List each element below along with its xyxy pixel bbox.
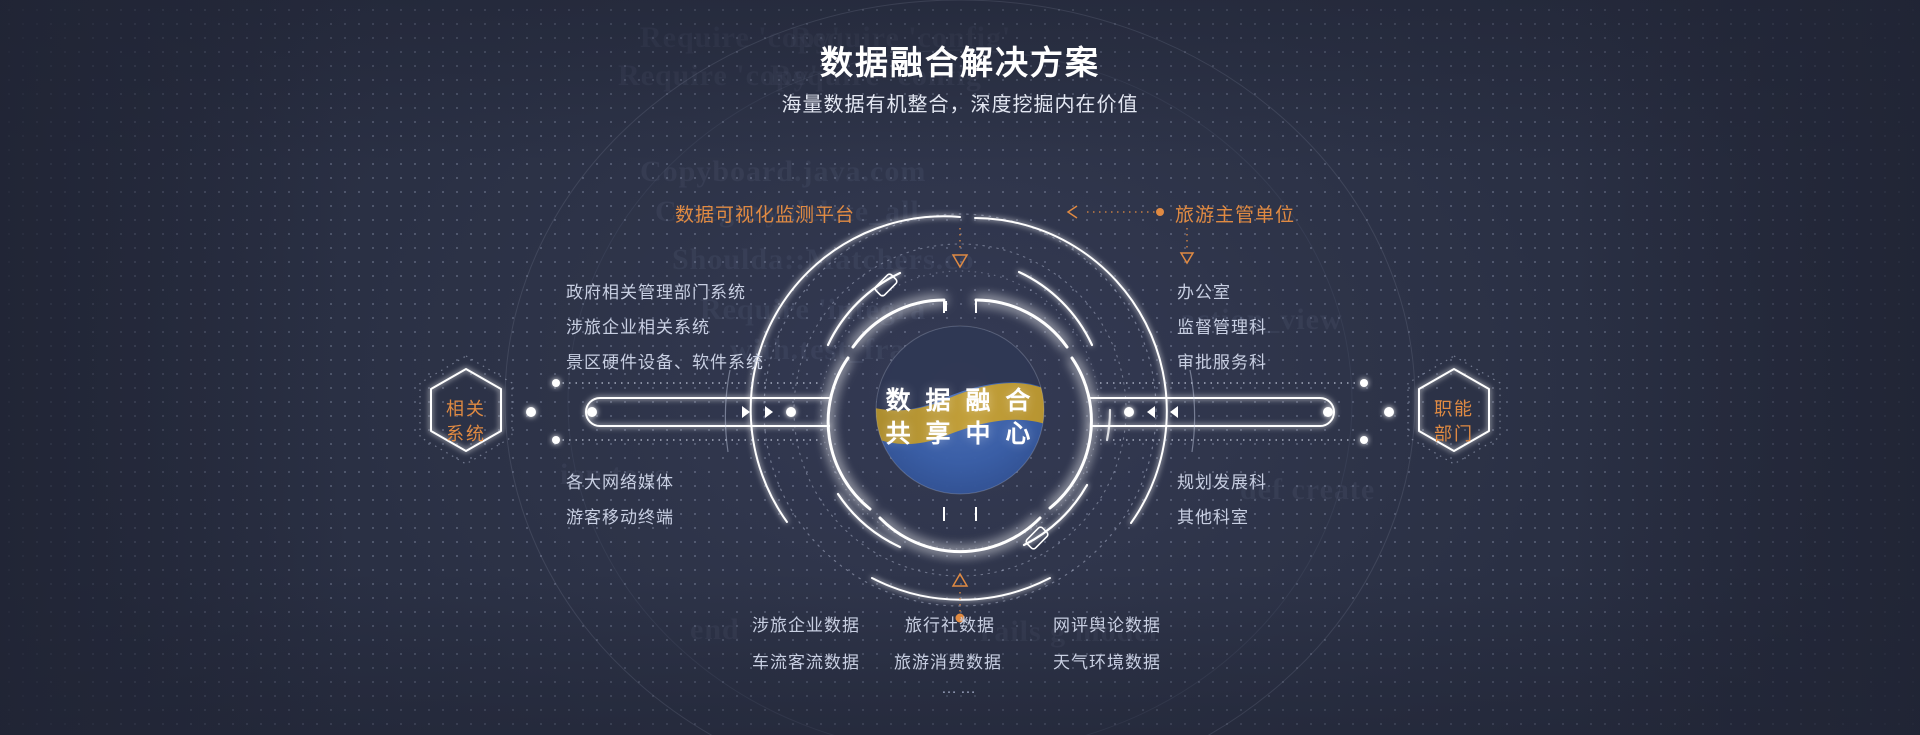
right-item-approval-service-department[interactable]: 审批服务科 [1177,348,1267,373]
left-item-network-media[interactable]: 各大网络媒体 [566,468,674,493]
page-subtitle: 海量数据有机整合，深度挖掘内在价值 [0,88,1920,117]
right-hexagon-label-line1: 职能 [1434,397,1474,422]
left-hexagon-label-line1: 相关 [446,397,486,422]
page-title: 数据融合解决方案 [0,36,1920,84]
label-data-visualization-platform[interactable]: 数据可视化监测平台 [675,200,855,227]
left-hexagon-label-line2: 系统 [446,422,486,447]
hub-label: 数 据 融 合 共 享 中 心 [886,385,1035,451]
right-item-other-departments[interactable]: 其他科室 [1177,503,1249,528]
top-orange-connector [953,206,1193,267]
right-item-planning-development[interactable]: 规划发展科 [1177,468,1267,493]
right-item-office[interactable]: 办公室 [1177,278,1231,303]
bottom-item-tourism-consumption-data[interactable]: 旅游消费数据 [894,648,1002,673]
right-hexagon-label: 职能 部门 [1434,397,1474,447]
left-item-tourist-mobile-terminals[interactable]: 游客移动终端 [566,503,674,528]
left-item-tourism-enterprise-systems[interactable]: 涉旅企业相关系统 [566,313,710,338]
bottom-ellipsis: …… [941,680,979,698]
left-item-government-systems[interactable]: 政府相关管理部门系统 [566,278,746,303]
bottom-item-online-review-data[interactable]: 网评舆论数据 [1053,611,1161,636]
right-hexagon-label-line2: 部门 [1434,422,1474,447]
bottom-item-weather-environment-data[interactable]: 天气环境数据 [1053,648,1161,673]
bottom-item-traffic-flow-data[interactable]: 车流客流数据 [752,648,860,673]
hub-label-line2: 共 享 中 心 [886,418,1035,451]
bottom-item-tourism-enterprise-data[interactable]: 涉旅企业数据 [752,611,860,636]
label-tourism-authority[interactable]: 旅游主管单位 [1175,200,1295,227]
hub-label-line1: 数 据 融 合 [886,385,1035,418]
right-connector [1090,379,1394,444]
bottom-item-travel-agency-data[interactable]: 旅行社数据 [905,611,995,636]
right-item-supervision-department[interactable]: 监督管理科 [1177,313,1267,338]
left-hexagon-label: 相关 系统 [446,397,486,447]
left-item-scenic-hardware-software[interactable]: 景区硬件设备、软件系统 [566,348,764,373]
left-connector [526,379,830,444]
diagram-stage: Require 'copy' Require 'config' Require … [0,0,1920,735]
